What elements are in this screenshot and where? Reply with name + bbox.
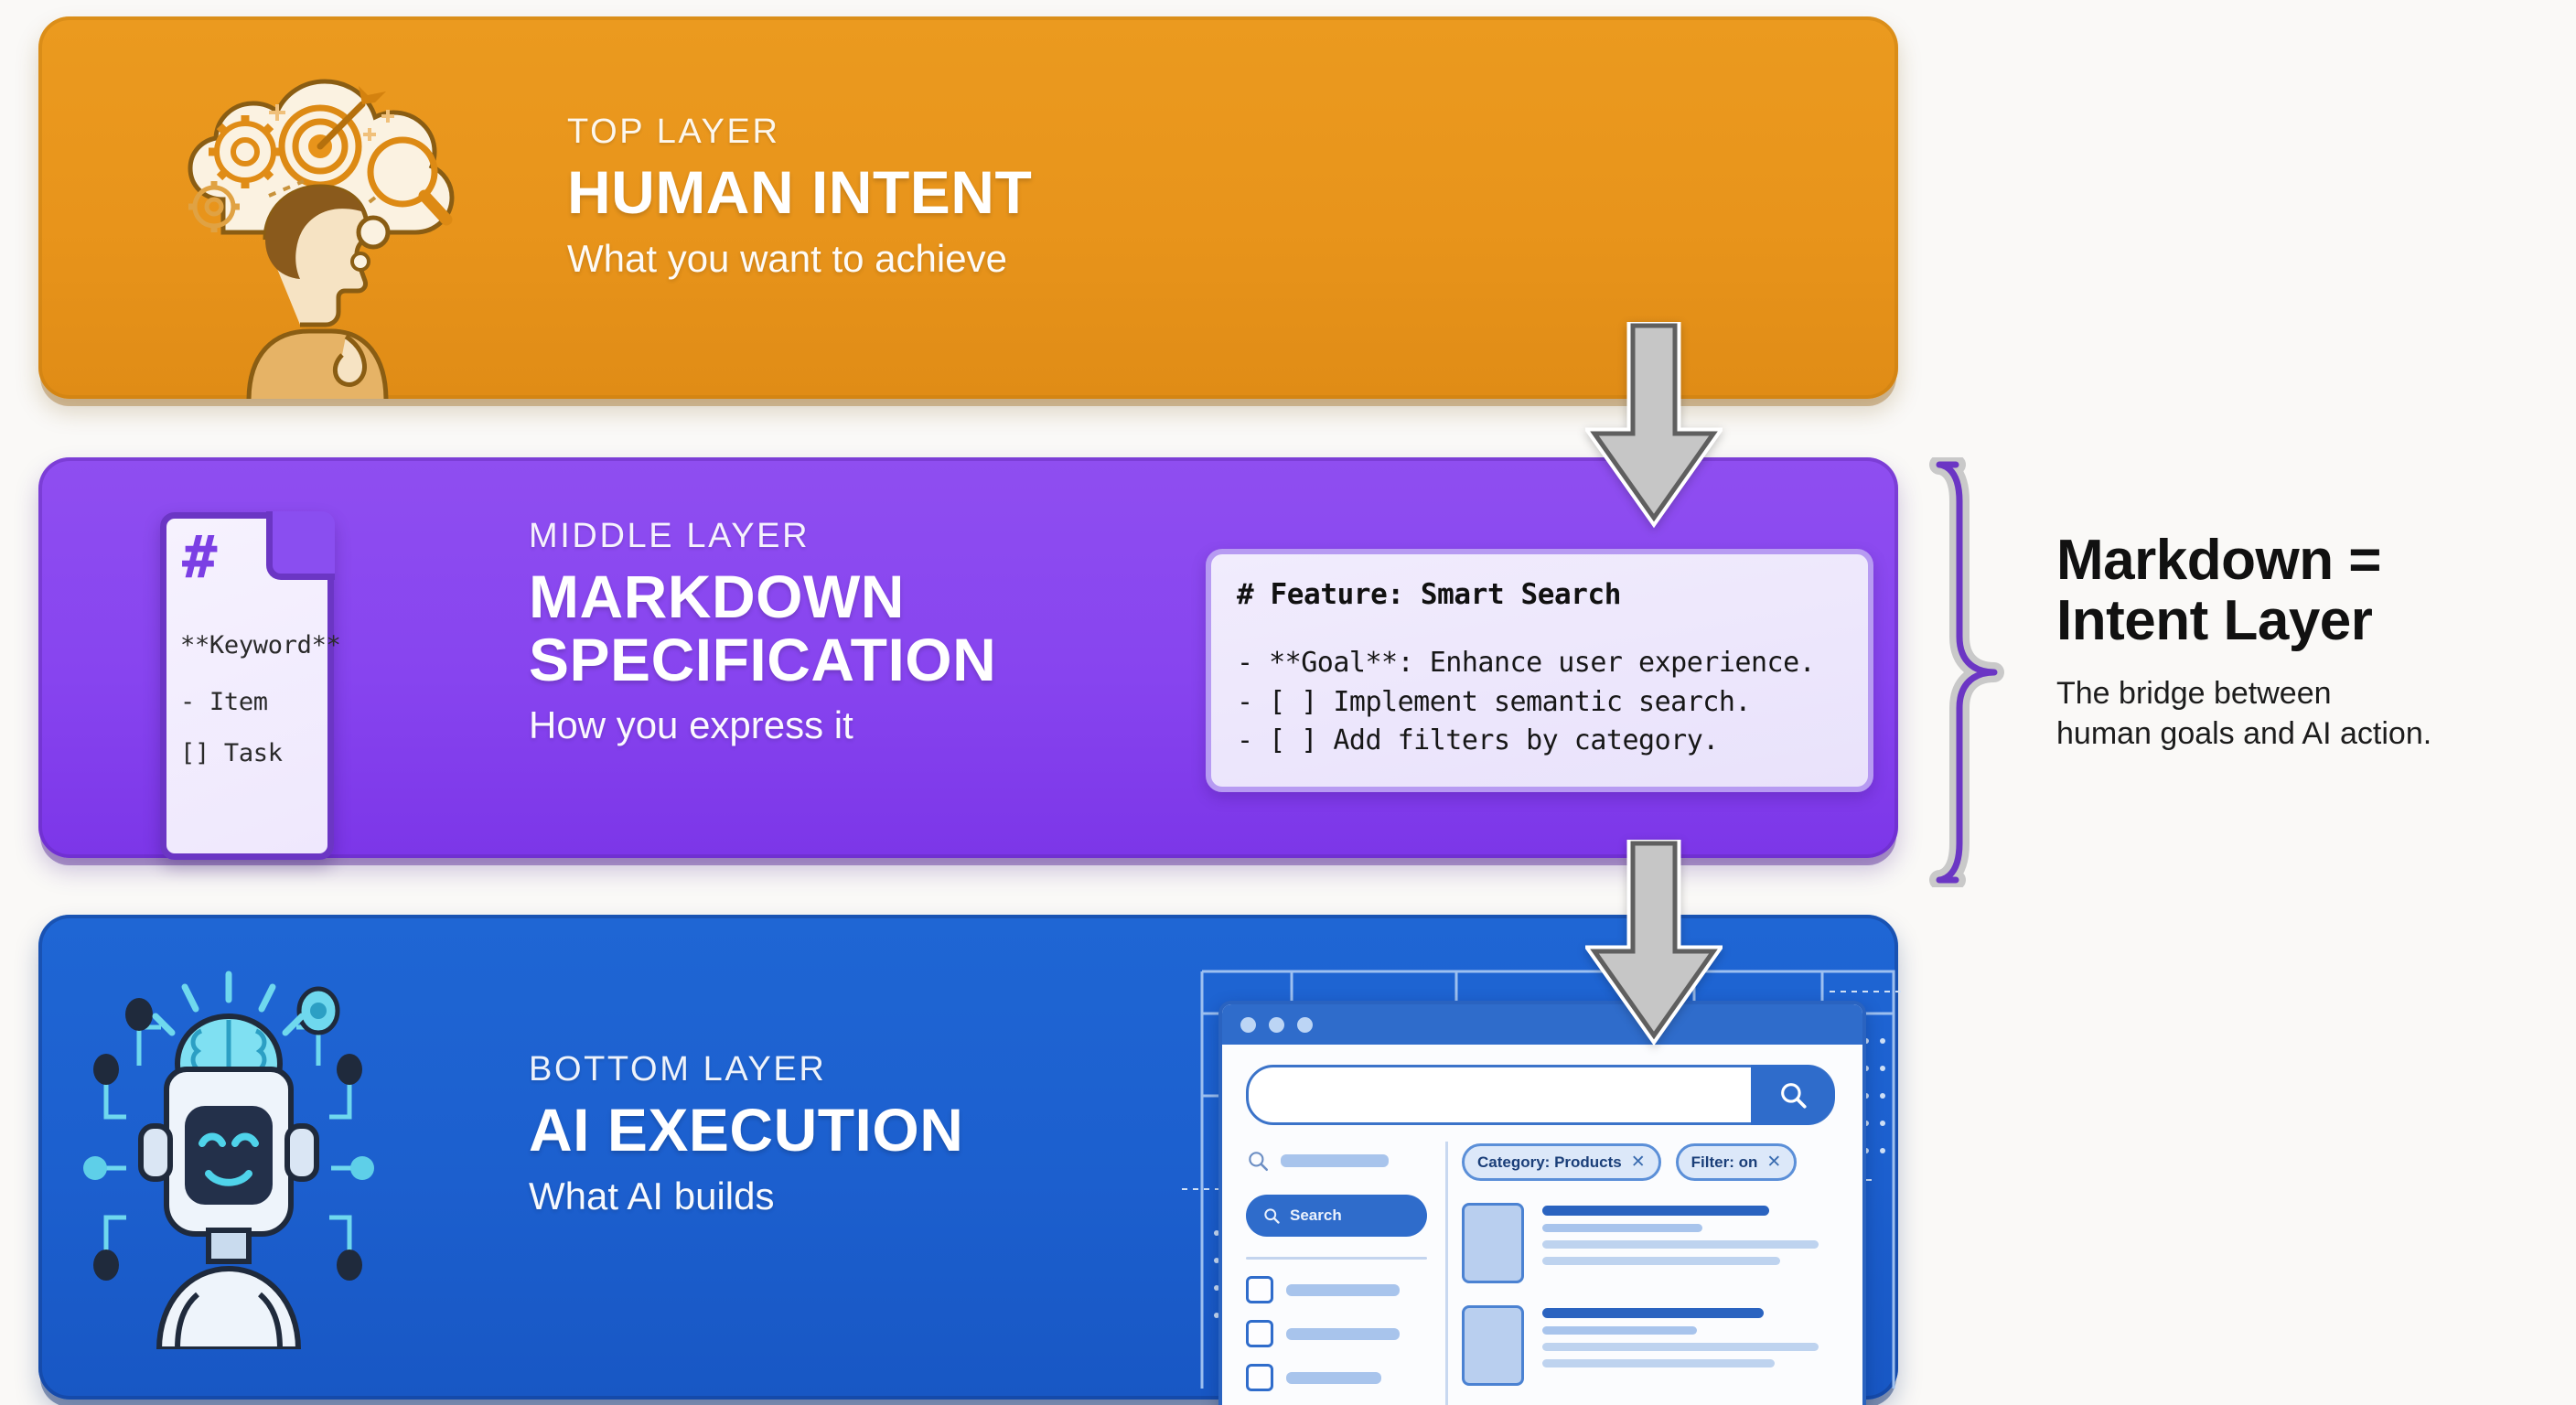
sidebar-search-button[interactable]: Search (1246, 1195, 1427, 1237)
top-layer-text-block: TOP LAYER HUMAN INTENT What you want to … (567, 113, 1032, 281)
right-caption-subtitle: The bridge between human goals and AI ac… (2056, 674, 2569, 754)
close-icon[interactable]: ✕ (1631, 1152, 1646, 1173)
search-icon (1262, 1207, 1281, 1225)
filter-checkbox-row[interactable] (1246, 1320, 1438, 1347)
right-caption-block: Markdown = Intent Layer The bridge betwe… (2056, 531, 2569, 754)
browser-titlebar (1222, 1004, 1862, 1045)
checkbox-label-bar (1286, 1328, 1400, 1340)
result-row[interactable] (1462, 1305, 1819, 1386)
markdown-spec-code-card: # Feature: Smart Search - **Goal**: Enha… (1206, 549, 1873, 792)
flow-arrow-middle-to-bottom (1585, 840, 1723, 1052)
thinking-person-thought-bubble-icon (157, 44, 468, 399)
window-dot-close[interactable] (1240, 1017, 1256, 1033)
result-text-lines (1542, 1305, 1819, 1386)
bottom-layer-subline: What AI builds (529, 1174, 963, 1218)
code-card-line-3: - [ ] Add filters by category. (1237, 722, 1842, 761)
search-icon (1777, 1079, 1809, 1110)
md-file-line-1: **Keyword** (180, 631, 341, 660)
md-file-line-3: [] Task (180, 739, 283, 767)
filter-chip-list: Category: Products ✕ Filter: on ✕ (1462, 1143, 1819, 1181)
top-layer-headline: HUMAN INTENT (567, 161, 1032, 224)
sidebar-placeholder-bar (1281, 1154, 1389, 1167)
grouping-brace (1928, 457, 2016, 887)
result-body-bar (1542, 1240, 1819, 1249)
main-search-input[interactable] (1246, 1065, 1835, 1125)
checkbox[interactable] (1246, 1320, 1273, 1347)
result-sub-bar (1542, 1224, 1702, 1232)
filter-chip-category-label: Category: Products (1477, 1153, 1622, 1172)
ai-robot-brain-icon (82, 956, 375, 1349)
result-row[interactable] (1462, 1203, 1819, 1283)
sidebar-separator (1246, 1257, 1427, 1260)
mockup-results-column: Category: Products ✕ Filter: on ✕ (1462, 1143, 1819, 1405)
bottom-layer-eyebrow: BOTTOM LAYER (529, 1050, 963, 1089)
code-card-heading: # Feature: Smart Search (1237, 578, 1842, 611)
md-file-line-2: - Item (180, 688, 268, 716)
middle-layer-headline: MARKDOWN SPECIFICATION (529, 565, 996, 691)
checkbox[interactable] (1246, 1276, 1273, 1303)
infographic-canvas: TOP LAYER HUMAN INTENT What you want to … (0, 0, 2576, 1405)
result-body-bar (1542, 1257, 1780, 1265)
ai-output-browser-mockup: Search (1182, 959, 1914, 1405)
result-sub-bar (1542, 1326, 1697, 1335)
checkbox-label-bar (1286, 1284, 1400, 1296)
window-dot-minimize[interactable] (1269, 1017, 1284, 1033)
middle-layer-eyebrow: MIDDLE LAYER (529, 517, 996, 556)
middle-layer-subline: How you express it (529, 703, 996, 747)
result-text-lines (1542, 1203, 1819, 1283)
result-title-bar (1542, 1206, 1769, 1216)
result-title-bar (1542, 1308, 1764, 1318)
browser-window: Search (1218, 1001, 1866, 1405)
result-body-bar (1542, 1343, 1819, 1351)
middle-layer-text-block: MIDDLE LAYER MARKDOWN SPECIFICATION How … (529, 517, 996, 747)
search-submit-button[interactable] (1751, 1065, 1835, 1125)
file-fold-corner (266, 511, 335, 580)
sidebar-search-button-label: Search (1290, 1207, 1342, 1225)
top-layer-subline: What you want to achieve (567, 237, 1032, 281)
markdown-file-icon: # **Keyword** - Item [] Task (160, 512, 334, 860)
flow-arrow-top-to-middle (1585, 322, 1723, 534)
right-caption-title: Markdown = Intent Layer (2056, 531, 2569, 650)
result-body-bar (1542, 1359, 1775, 1367)
sidebar-divider (1445, 1142, 1448, 1405)
filter-checkbox-row[interactable] (1246, 1276, 1438, 1303)
hash-glyph: # (182, 529, 218, 587)
checkbox[interactable] (1246, 1364, 1273, 1391)
filter-chip-filter-label: Filter: on (1691, 1153, 1758, 1172)
bottom-layer-text-block: BOTTOM LAYER AI EXECUTION What AI builds (529, 1050, 963, 1218)
filter-checkbox-row[interactable] (1246, 1364, 1438, 1391)
search-icon (1246, 1149, 1270, 1173)
filter-chip-filter[interactable]: Filter: on ✕ (1676, 1143, 1798, 1181)
checkbox-label-bar (1286, 1372, 1381, 1384)
sidebar-search-row (1246, 1149, 1438, 1173)
code-card-body: - **Goal**: Enhance user experience. - [… (1237, 644, 1842, 761)
top-layer-eyebrow: TOP LAYER (567, 113, 1032, 152)
code-card-line-1: - **Goal**: Enhance user experience. (1237, 644, 1842, 683)
window-dot-maximize[interactable] (1297, 1017, 1313, 1033)
bottom-layer-headline: AI EXECUTION (529, 1099, 963, 1162)
result-thumbnail (1462, 1203, 1524, 1283)
filter-chip-category[interactable]: Category: Products ✕ (1462, 1143, 1661, 1181)
mockup-sidebar: Search (1246, 1149, 1438, 1405)
code-card-line-2: - [ ] Implement semantic search. (1237, 683, 1842, 723)
result-thumbnail (1462, 1305, 1524, 1386)
close-icon[interactable]: ✕ (1766, 1152, 1781, 1173)
